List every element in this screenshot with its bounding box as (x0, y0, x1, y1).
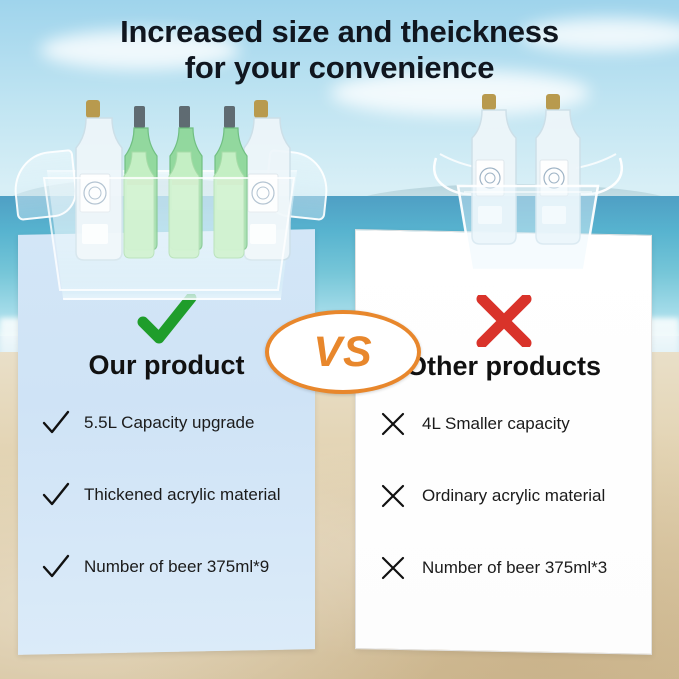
headline-line-2: for your convenience (0, 50, 679, 86)
left-bottles-group (14, 92, 324, 302)
list-item-label: 4L Smaller capacity (422, 411, 570, 435)
right-product-photo (428, 88, 628, 278)
list-item-label: 5.5L Capacity upgrade (84, 410, 254, 434)
headline-line-1: Increased size and theickness (0, 14, 679, 50)
right-bottles-group (428, 88, 628, 278)
cross-icon (380, 411, 414, 441)
list-item: Number of beer 375ml*3 (380, 555, 639, 589)
check-icon (42, 482, 76, 512)
other-products-feature-list: 4L Smaller capacity Ordinary acrylic mat… (380, 411, 639, 627)
left-product-photo (14, 92, 324, 302)
other-products-panel: Other products 4L Smaller capacity (355, 229, 652, 655)
list-item-label: Number of beer 375ml*9 (84, 554, 269, 578)
page-title: Increased size and theickness for your c… (0, 14, 679, 86)
check-icon (42, 410, 76, 440)
list-item-label: Thickened acrylic material (84, 482, 281, 506)
list-item: Ordinary acrylic material (380, 483, 639, 517)
vs-label: VS (313, 328, 372, 377)
our-product-feature-list: 5.5L Capacity upgrade Thickened acrylic … (42, 410, 303, 626)
list-item: 5.5L Capacity upgrade (42, 410, 303, 444)
list-item-label: Number of beer 375ml*3 (422, 555, 607, 579)
cross-icon (474, 295, 534, 347)
list-item: 4L Smaller capacity (380, 411, 639, 445)
cross-icon (380, 483, 414, 513)
check-icon (42, 554, 76, 584)
list-item: Number of beer 375ml*9 (42, 554, 303, 588)
list-item-label: Ordinary acrylic material (422, 483, 605, 507)
list-item: Thickened acrylic material (42, 482, 303, 516)
cross-icon (380, 555, 414, 585)
product-comparison-infographic: Increased size and theickness for your c… (0, 0, 679, 679)
vs-badge: VS (265, 310, 421, 394)
